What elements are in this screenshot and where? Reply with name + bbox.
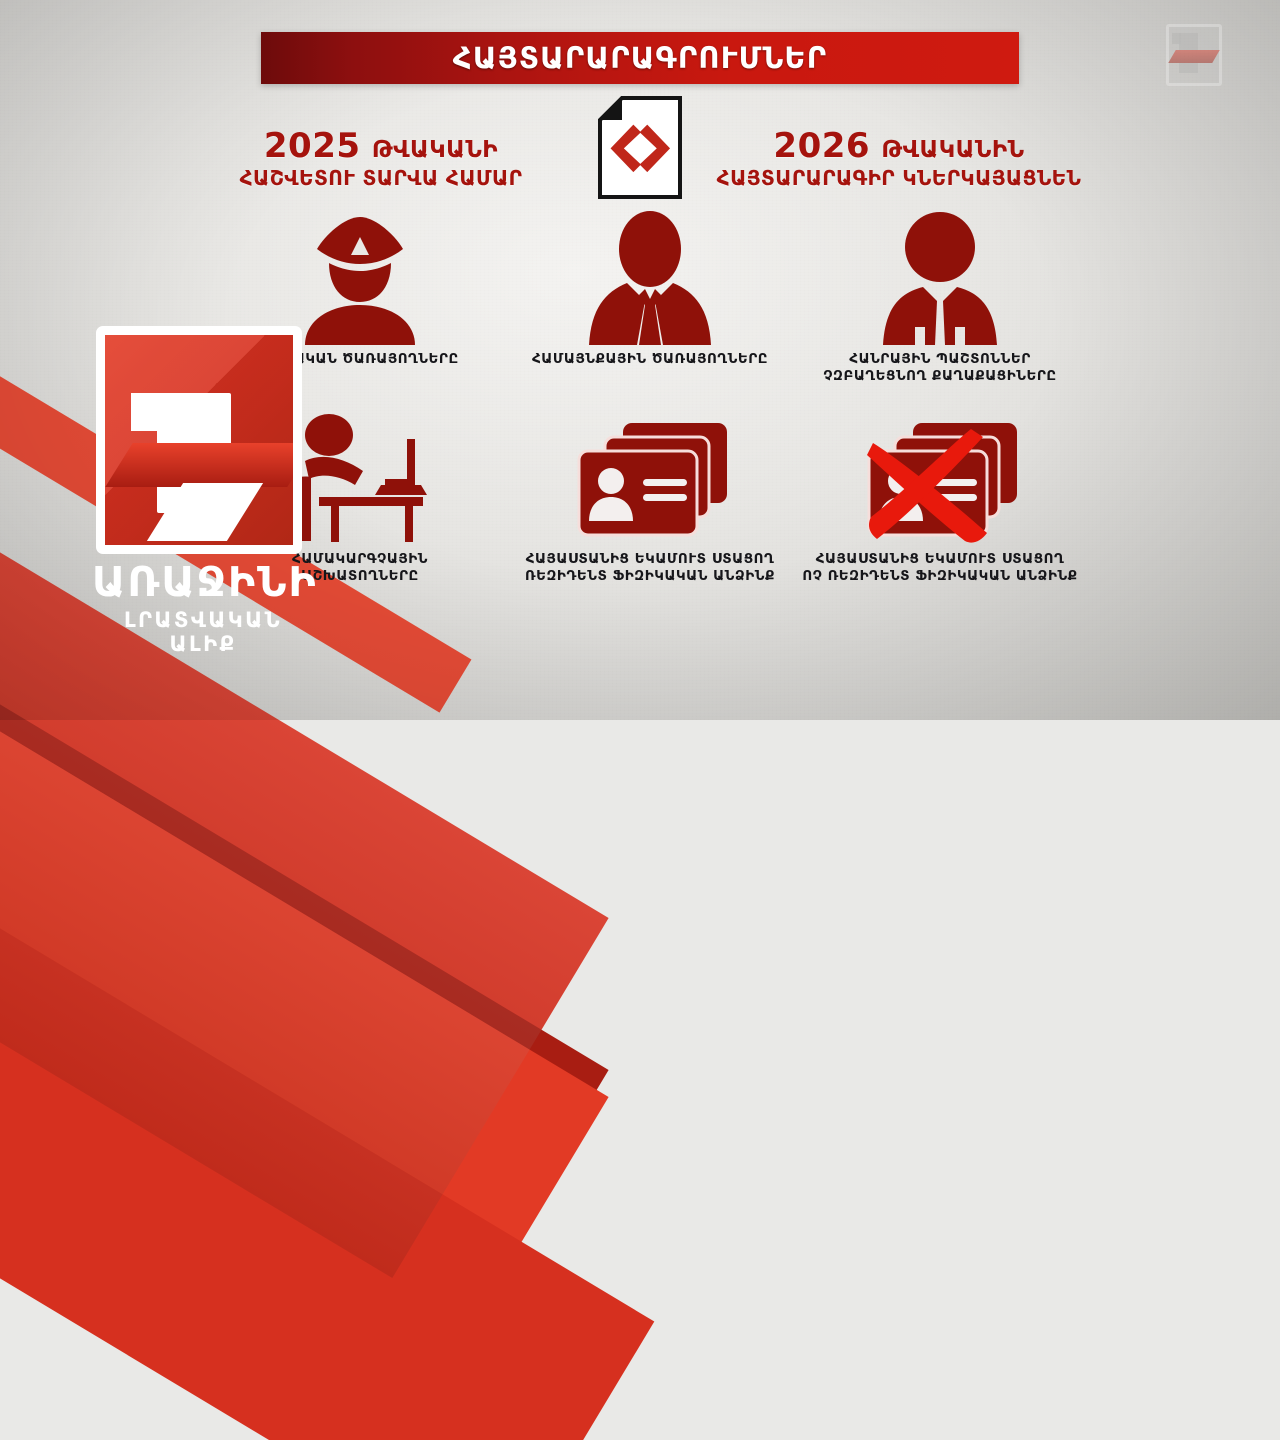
column-heading-2026: 2026 ԹՎԱԿԱՆԻՆ ՀԱՅՏԱՐԱՐԱԳԻՐ ԿՆԵՐԿԱՅԱՑՆԵՆ bbox=[716, 128, 1082, 190]
document-code-icon bbox=[596, 96, 684, 200]
cell-caption: ՀԱՅԱՍՏԱՆԻՑ ԵԿԱՄՈՒՏ ՍՏԱՑՈՂ ՈՉ ՌԵԶԻԴԵՆՏ ՖԻ… bbox=[790, 551, 1090, 586]
brand-diagonal-stripe bbox=[105, 443, 302, 487]
businessman-icon bbox=[500, 205, 800, 345]
cell-community-servants: ՀԱՄԱՅՆՔԱՅԻՆ ԾԱՌԱՅՈՂՆԵՐԸ bbox=[500, 205, 800, 368]
cell-caption: ՀԱՅԱՍՏԱՆԻՑ ԵԿԱՄՈՒՏ ՍՏԱՑՈՂ ՌԵԶԻԴԵՆՏ ՖԻԶԻԿ… bbox=[500, 551, 800, 586]
cell-non-public-office-citizens: ՀԱՆՐԱՅԻՆ ՊԱՇՏՈՆՆԵՐ ՉԶԲԱՂԵՑՆՈՂ ՔԱՂԱՔԱՑԻՆԵ… bbox=[790, 205, 1090, 386]
year-value: 2025 bbox=[264, 126, 361, 166]
person-icon bbox=[790, 205, 1090, 345]
year-heading-line-1: 2025 ԹՎԱԿԱՆԻ bbox=[198, 128, 564, 164]
channel-brand-logo: ԱՌԱՋԻՆԻ ԼՐԱՏՎԱԿԱՆ ԱԼԻՔ bbox=[96, 326, 310, 656]
year-value: 2026 bbox=[773, 126, 870, 166]
column-heading-2025: 2025 ԹՎԱԿԱՆԻ ՀԱՇՎԵՏՈՒ ՏԱՐՎԱ ՀԱՄԱՐ bbox=[198, 128, 564, 190]
brand-wordmark: ԱՌԱՋԻՆԻ ԼՐԱՏՎԱԿԱՆ ԱԼԻՔ bbox=[92, 562, 314, 656]
header-bar: ՀԱՅՏԱՐԱՐԱԳՐՈՒՄՆԵՐ bbox=[261, 32, 1019, 84]
logo-diagonal-stripe bbox=[1168, 50, 1220, 63]
cell-caption: ՀԱՆՐԱՅԻՆ ՊԱՇՏՈՆՆԵՐ ՉԶԲԱՂԵՑՆՈՂ ՔԱՂԱՔԱՑԻՆԵ… bbox=[790, 351, 1090, 386]
page-title: ՀԱՅՏԱՐԱՐԱԳՐՈՒՄՆԵՐ bbox=[453, 41, 827, 75]
year-heading-line-1: 2026 ԹՎԱԿԱՆԻՆ bbox=[716, 128, 1082, 164]
brand-logo-box bbox=[96, 326, 302, 554]
year-suffix: ԹՎԱԿԱՆԻ bbox=[372, 137, 498, 163]
year-suffix: ԹՎԱԿԱՆԻՆ bbox=[881, 137, 1024, 163]
id-cards-crossed-icon bbox=[790, 405, 1090, 545]
cell-resident-individuals: ՀԱՅԱՍՏԱՆԻՑ ԵԿԱՄՈՒՏ ՍՏԱՑՈՂ ՌԵԶԻԴԵՆՏ ՖԻԶԻԿ… bbox=[500, 405, 800, 586]
police-officer-icon bbox=[210, 205, 510, 345]
brand-name-line-2: ԼՐԱՏՎԱԿԱՆ ԱԼԻՔ bbox=[92, 608, 314, 656]
cell-caption: ՀԱՄԱՅՆՔԱՅԻՆ ԾԱՌԱՅՈՂՆԵՐԸ bbox=[500, 351, 800, 368]
cell-non-resident-individuals: ՀԱՅԱՍՏԱՆԻՑ ԵԿԱՄՈՒՏ ՍՏԱՑՈՂ ՈՉ ՌԵԶԻԴԵՆՏ ՖԻ… bbox=[790, 405, 1090, 586]
year-heading-line-2: ՀԱՅՏԱՐԱՐԱԳԻՐ ԿՆԵՐԿԱՅԱՑՆԵՆ bbox=[716, 166, 1082, 190]
year-heading-line-2: ՀԱՇՎԵՏՈՒ ՏԱՐՎԱ ՀԱՄԱՐ bbox=[198, 166, 564, 190]
channel-one-logo-icon bbox=[1166, 24, 1222, 86]
id-cards-icon bbox=[500, 405, 800, 545]
brand-name-line-1: ԱՌԱՋԻՆԻ bbox=[92, 562, 314, 603]
